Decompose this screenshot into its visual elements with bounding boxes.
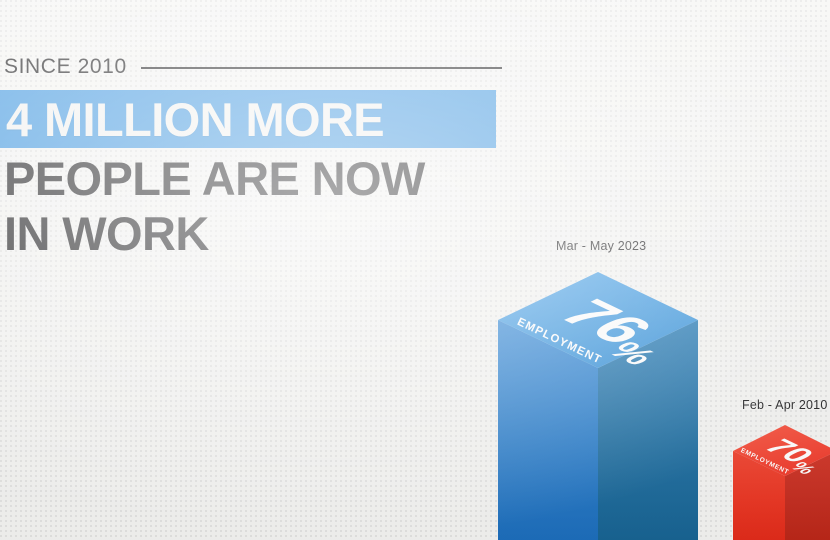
headline-line-3: IN WORK <box>0 207 510 262</box>
kicker-rule-divider <box>141 67 502 69</box>
kicker-text: SINCE 2010 <box>4 55 127 79</box>
bar-label-feb-apr-2010: Feb - Apr 2010 <box>742 398 828 412</box>
bar-label-mar-may-2023: Mar - May 2023 <box>556 239 646 253</box>
kicker-row: SINCE 2010 <box>0 52 510 82</box>
headline-line-2: PEOPLE ARE NOW <box>0 152 510 207</box>
headline-highlight-text: 4 MILLION MORE <box>0 96 384 143</box>
headline-block: SINCE 2010 4 MILLION MORE PEOPLE ARE NOW… <box>0 52 510 262</box>
highlight-bar: 4 MILLION MORE <box>0 90 496 148</box>
bar-column-mar-may-2023: 76 % EMPLOYMENT <box>496 268 702 540</box>
infographic-canvas: SINCE 2010 4 MILLION MORE PEOPLE ARE NOW… <box>0 0 830 540</box>
bar-column-feb-apr-2010: 70 % EMPLOYMENT <box>726 421 830 540</box>
